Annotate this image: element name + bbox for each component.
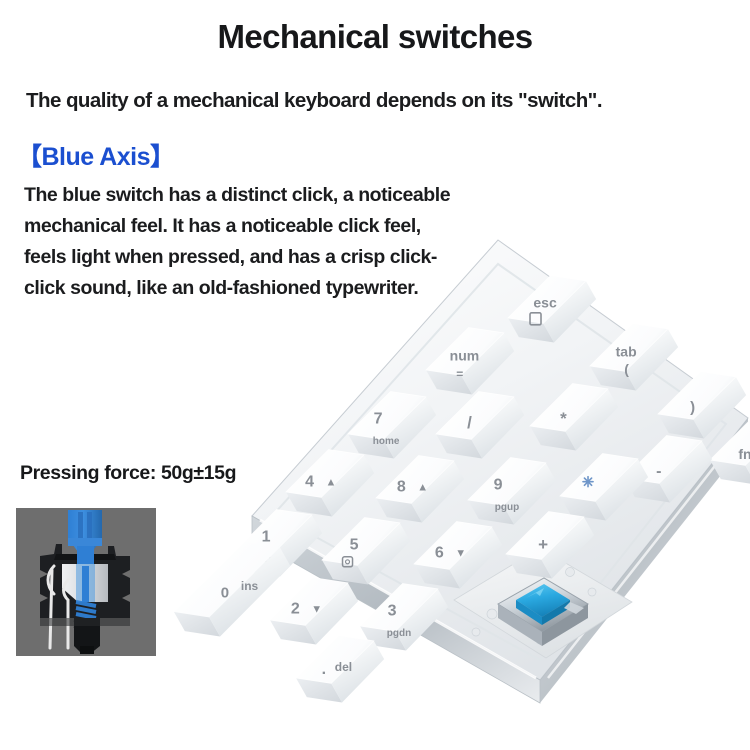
svg-text:tab: tab <box>616 344 637 360</box>
svg-text:4: 4 <box>305 473 314 490</box>
svg-text:▼: ▼ <box>455 548 466 560</box>
svg-text:ins: ins <box>241 579 259 593</box>
svg-text:=: = <box>456 367 463 381</box>
svg-text:/: / <box>467 413 472 432</box>
svg-text:2: 2 <box>291 600 300 617</box>
blue-switch-cutaway-image <box>16 508 156 656</box>
switch-spring <box>76 602 96 618</box>
svg-text:8: 8 <box>397 478 406 495</box>
svg-text:▲: ▲ <box>417 482 428 494</box>
svg-text:9: 9 <box>494 477 503 494</box>
svg-text:1: 1 <box>262 529 271 546</box>
svg-text:pgdn: pgdn <box>387 628 411 639</box>
page-title: Mechanical switches <box>0 18 750 56</box>
section-heading-blue-axis: 【Blue Axis】 <box>17 137 175 173</box>
svg-text:del: del <box>335 660 352 674</box>
svg-text:.: . <box>322 661 326 678</box>
svg-text:+: + <box>538 535 548 554</box>
svg-text:home: home <box>373 436 400 447</box>
svg-text:num: num <box>450 348 480 364</box>
svg-text:-: - <box>656 463 661 480</box>
svg-text:▼: ▼ <box>311 604 322 616</box>
page-subtitle: The quality of a mechanical keyboard dep… <box>26 89 736 113</box>
svg-text:pgup: pgup <box>495 502 519 513</box>
product-infographic: Mechanical switches The quality of a mec… <box>0 0 750 750</box>
svg-text:(: ( <box>624 361 629 377</box>
svg-text:0: 0 <box>221 584 229 601</box>
keyboard-photo: num = esc tab ( ) fn <box>240 248 750 708</box>
svg-text:5: 5 <box>350 537 359 554</box>
backlight-icon <box>583 477 593 487</box>
svg-text:fn: fn <box>738 446 750 462</box>
svg-text:▲: ▲ <box>326 477 337 489</box>
svg-text:3: 3 <box>388 603 397 620</box>
svg-text:*: * <box>560 409 567 428</box>
svg-text:): ) <box>690 399 695 416</box>
svg-text:6: 6 <box>435 544 444 561</box>
pressing-force-label: Pressing force: 50g±15g <box>20 462 236 485</box>
svg-text:esc: esc <box>533 295 557 311</box>
svg-text:7: 7 <box>374 411 383 428</box>
